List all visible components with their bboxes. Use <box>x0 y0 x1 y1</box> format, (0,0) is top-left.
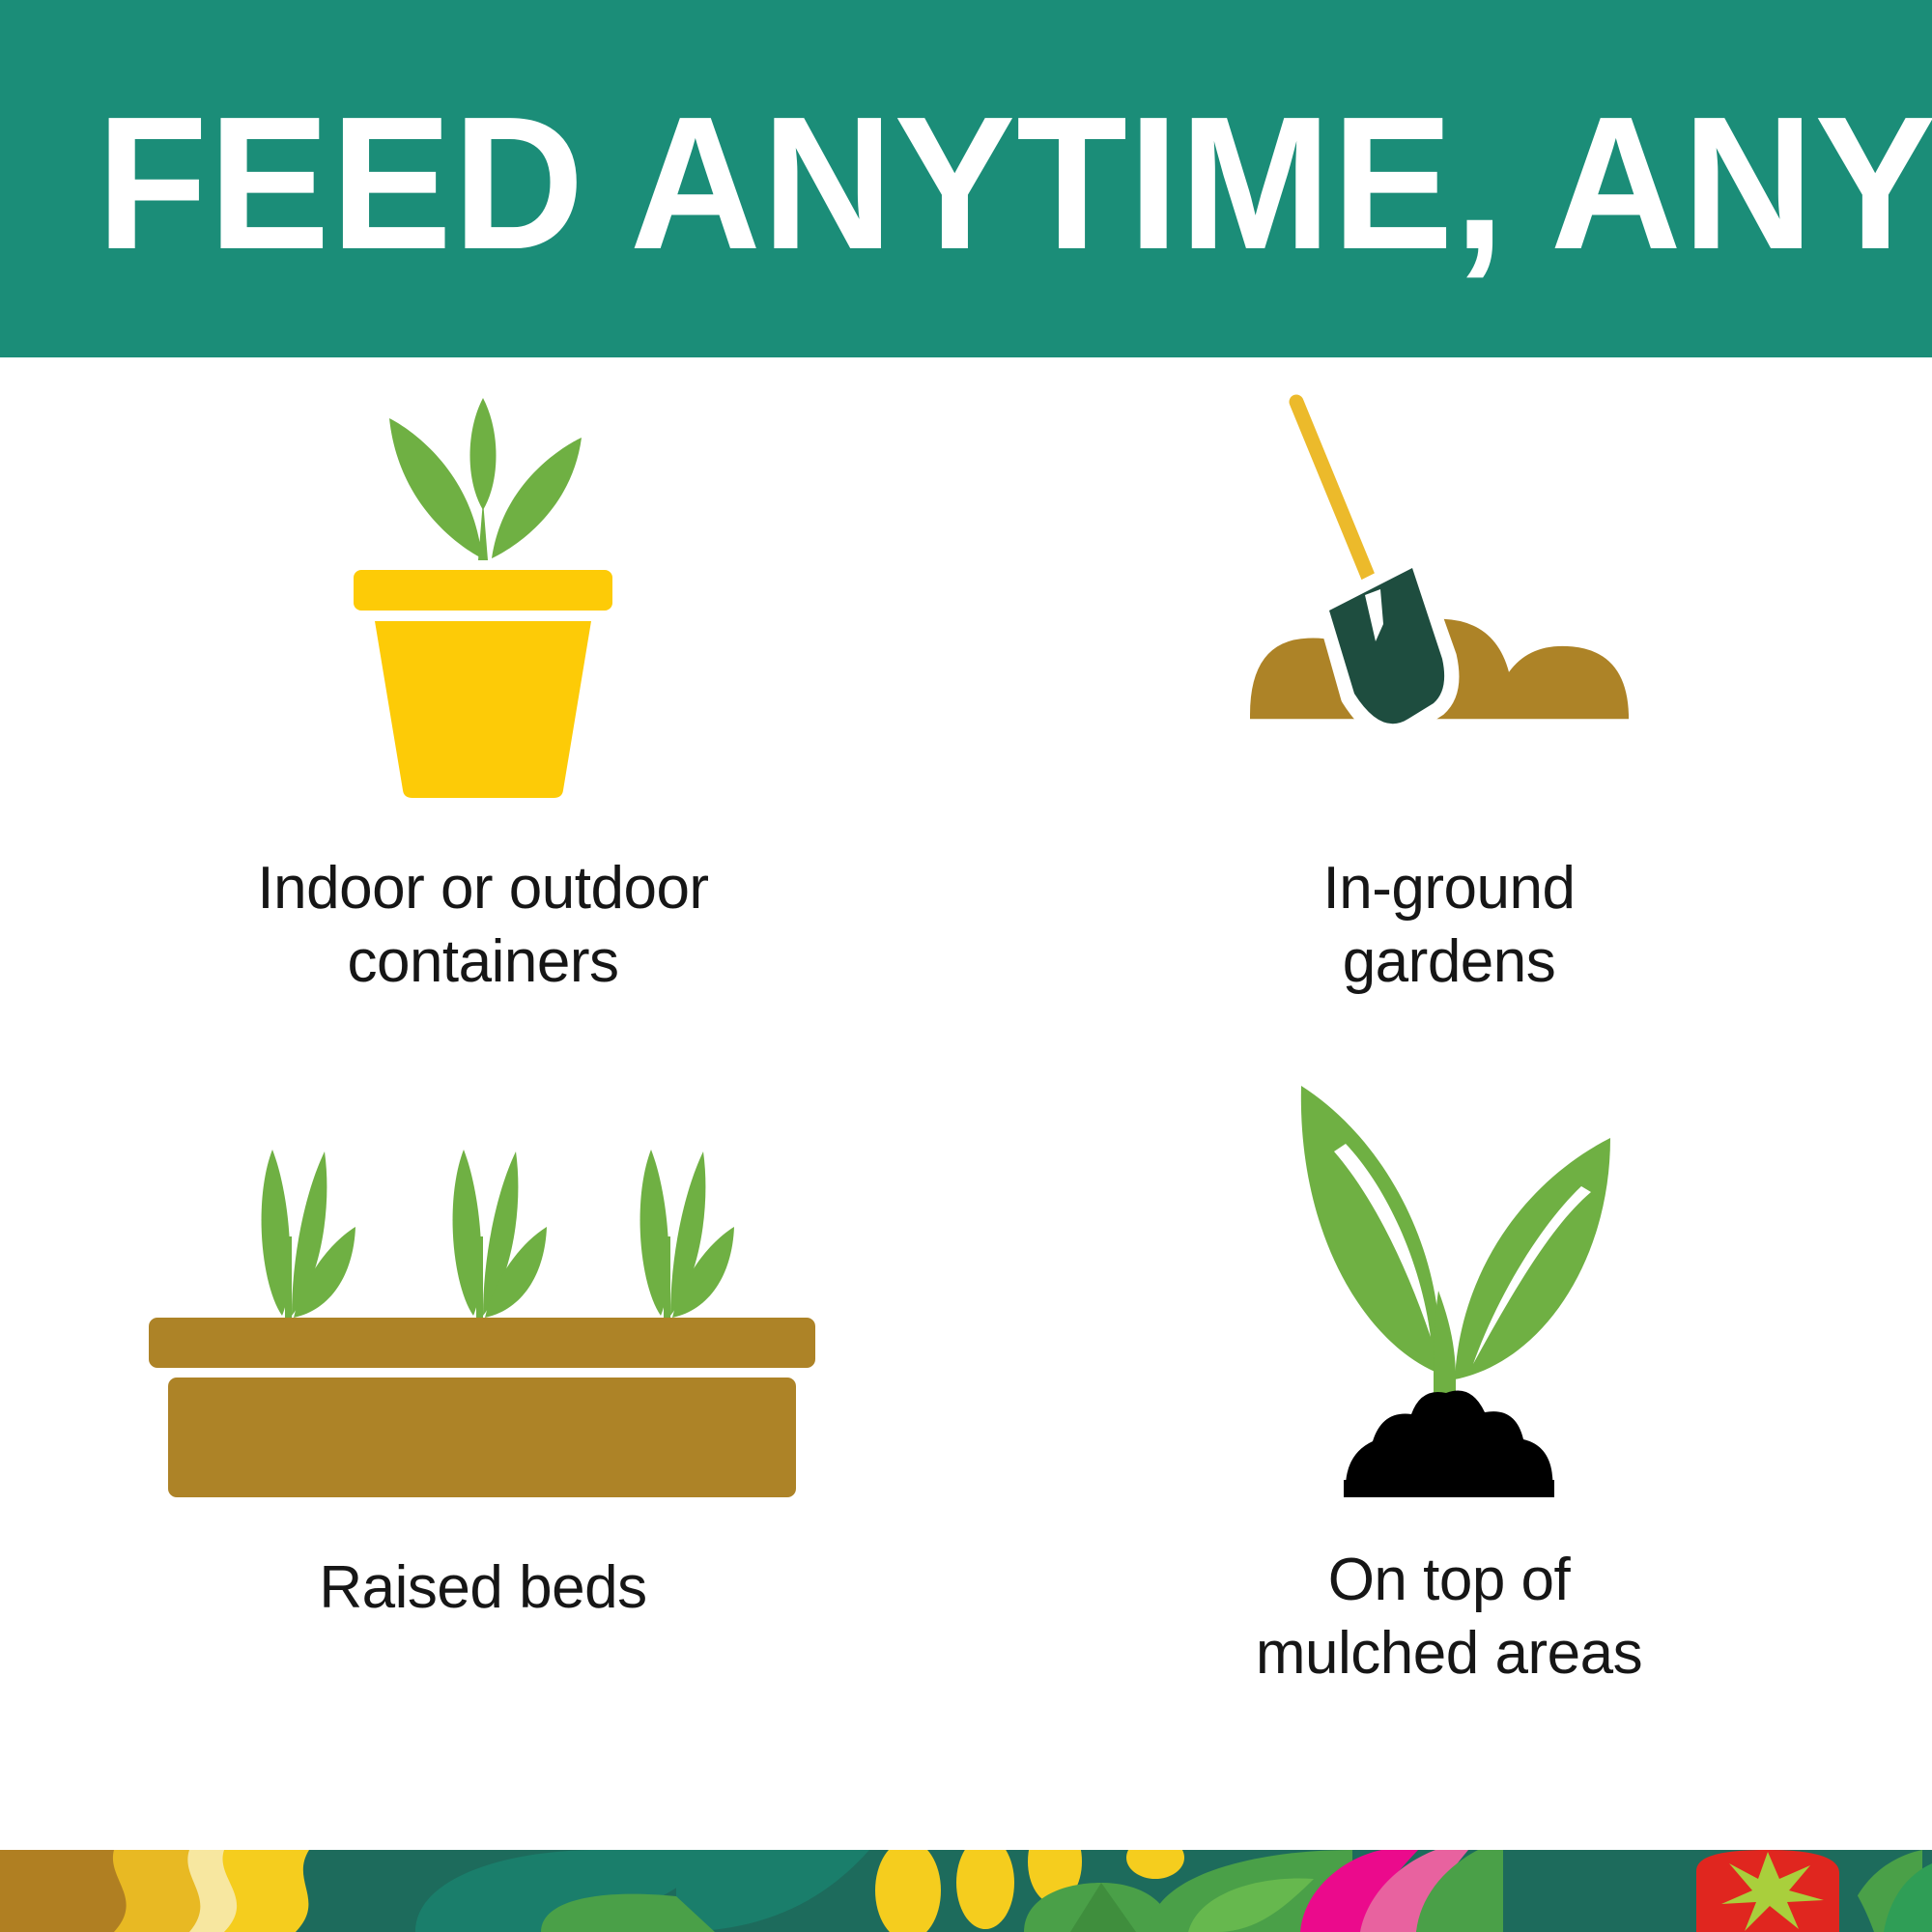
feature-label-raised-beds: Raised beds <box>319 1551 646 1625</box>
infographic-page: FEED ANYTIME, ANYWHERE <box>0 0 1932 1932</box>
header-banner: FEED ANYTIME, ANYWHERE <box>0 0 1932 357</box>
feature-label-containers: Indoor or outdoor containers <box>257 852 708 999</box>
label-line: On top of <box>1256 1544 1642 1617</box>
label-line: Indoor or outdoor <box>257 852 708 925</box>
feature-cell-mulched: On top of mulched areas <box>966 1055 1932 1690</box>
raised-bed-icon <box>145 1092 821 1497</box>
feature-cell-containers: Indoor or outdoor containers <box>0 384 966 999</box>
page-title: FEED ANYTIME, ANYWHERE <box>97 89 1794 278</box>
label-line: gardens <box>1323 925 1576 999</box>
label-line: Raised beds <box>319 1551 646 1625</box>
sprout-in-mulch-icon <box>1241 1055 1657 1509</box>
decorative-garden-pattern-strip <box>0 1850 1932 1932</box>
label-line: In-ground <box>1323 852 1576 925</box>
feature-label-mulched: On top of mulched areas <box>1256 1544 1642 1690</box>
shovel-in-soil-icon <box>1236 384 1662 819</box>
feature-grid: Indoor or outdoor containers <box>0 357 1932 1850</box>
feature-cell-in-ground: In-ground gardens <box>966 384 1932 999</box>
label-line: containers <box>257 925 708 999</box>
feature-cell-raised-beds: Raised beds <box>0 1092 966 1625</box>
feature-label-in-ground: In-ground gardens <box>1323 852 1576 999</box>
potted-plant-icon <box>328 384 638 819</box>
label-line: mulched areas <box>1256 1617 1642 1690</box>
